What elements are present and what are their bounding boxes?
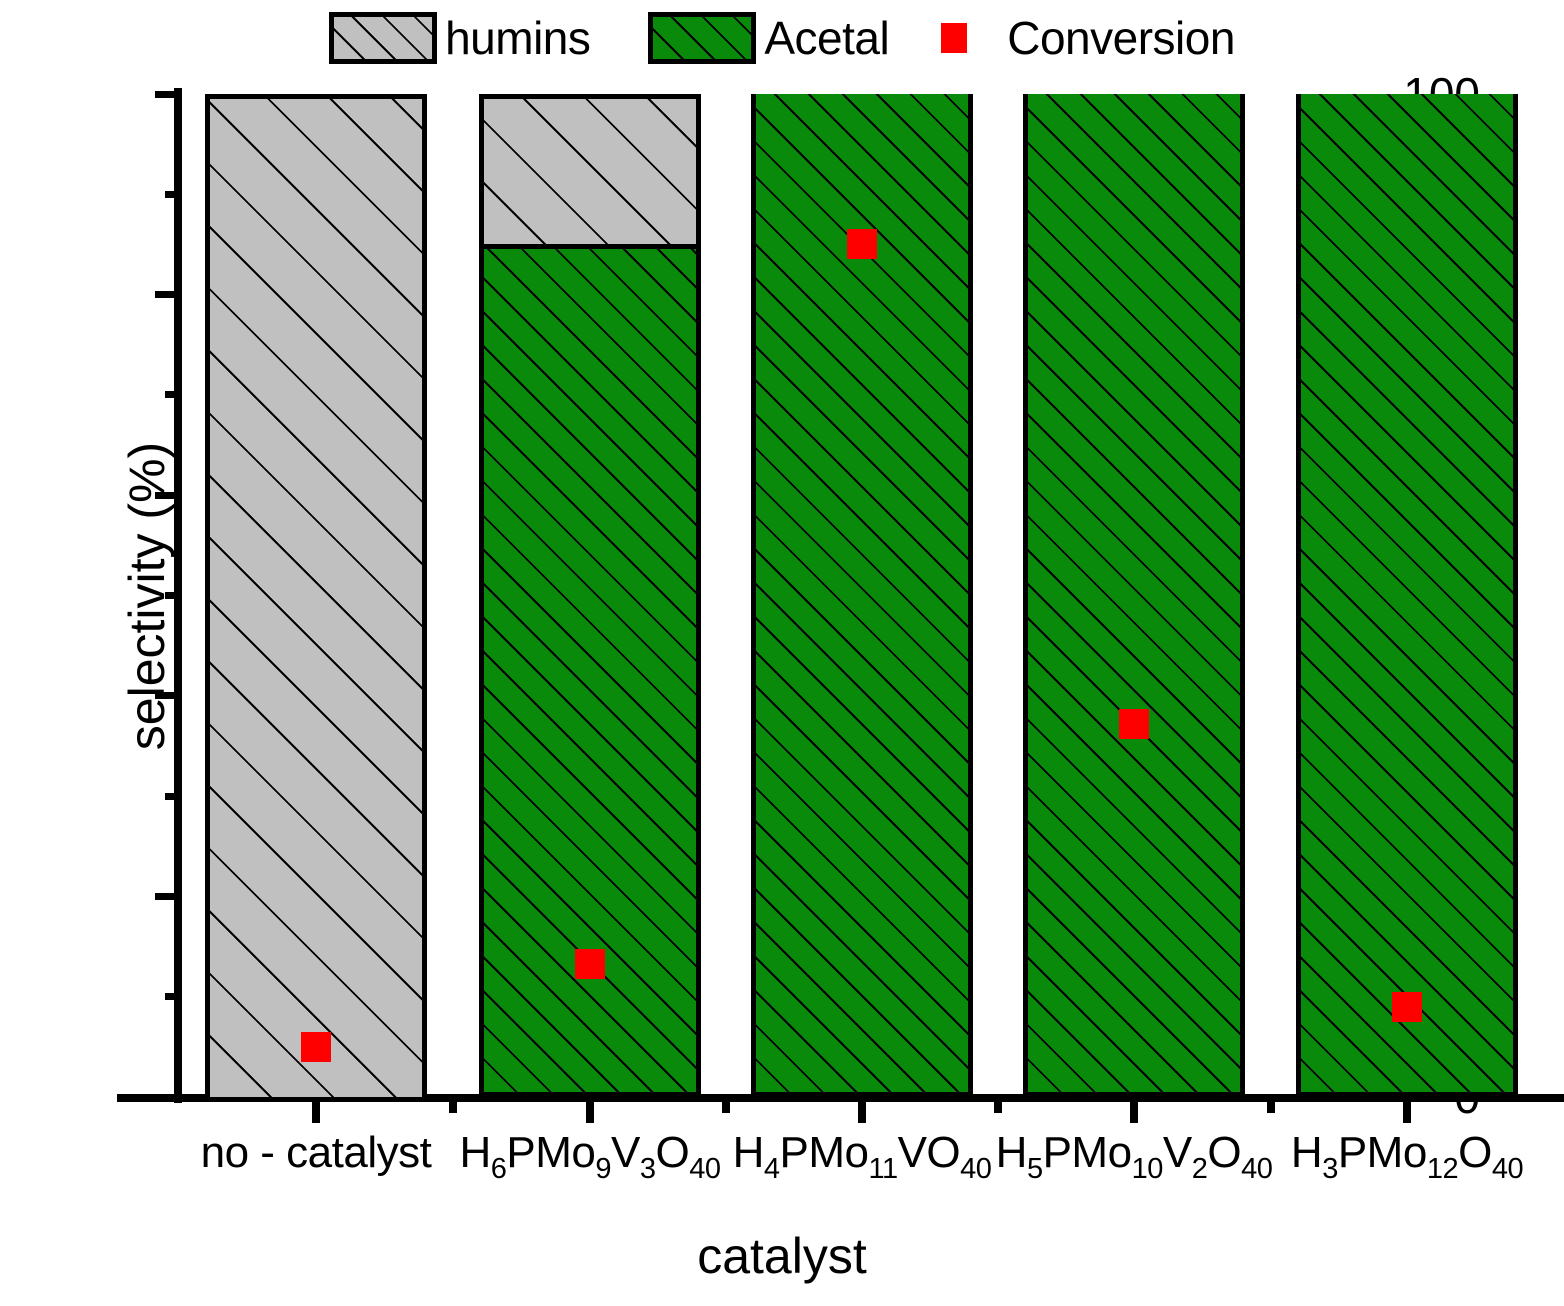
bar-H6PMo9V3O40 (479, 94, 701, 1097)
conversion-marker (1392, 992, 1422, 1022)
y-tick-minor (165, 191, 181, 198)
x-tick-label: H6PMo9V3O40 (459, 1128, 720, 1178)
conversion-marker (575, 949, 605, 979)
chart-legend: humins Acetal Conversion (0, 4, 1564, 72)
x-tick-minor (722, 1097, 730, 1113)
red-square-marker-icon (941, 23, 967, 53)
y-tick-major (155, 893, 181, 900)
x-tick-minor (994, 1097, 1002, 1113)
bar-no - catalyst (205, 94, 427, 1097)
y-tick-major (155, 291, 181, 298)
y-tick-major (155, 91, 181, 98)
legend-label-humins: humins (445, 15, 590, 61)
bar-H3PMo12O40 (1296, 94, 1518, 1097)
x-tick-minor (1267, 1097, 1275, 1113)
x-tick-major (1403, 1097, 1411, 1123)
y-tick-major (155, 1094, 181, 1101)
legend-entry-acetal: Acetal (648, 12, 889, 64)
x-tick-major (312, 1097, 320, 1123)
x-tick-label: H5PMo10V2O40 (996, 1128, 1273, 1178)
chart-figure: humins Acetal Conversion 020406080100 se… (0, 0, 1564, 1306)
conversion-marker (847, 229, 877, 259)
bar-segment-acetal (1301, 94, 1513, 1092)
gray-hatched-swatch-icon (329, 12, 437, 64)
y-tick-minor (165, 793, 181, 800)
plot-area: 020406080100 selectivity (%) (181, 94, 1518, 1097)
x-tick-major (586, 1097, 594, 1123)
x-axis-title: catalyst (0, 1228, 1564, 1284)
conversion-marker (1119, 709, 1149, 739)
bar-segment-acetal (1028, 94, 1240, 1092)
bar-segment-humins (210, 99, 422, 1097)
conversion-marker (301, 1032, 331, 1062)
x-tick-major (1130, 1097, 1138, 1123)
legend-label-acetal: Acetal (764, 15, 889, 61)
green-hatched-swatch-icon (648, 12, 756, 64)
x-tick-major (858, 1097, 866, 1123)
x-tick-minor (449, 1097, 457, 1113)
x-tick-label: no - catalyst (201, 1128, 432, 1178)
legend-label-conversion: Conversion (1007, 15, 1235, 61)
legend-entry-humins: humins (329, 12, 590, 64)
x-tick-label: H3PMo12O40 (1291, 1128, 1523, 1178)
x-tick-label: H4PMo11VO40 (733, 1128, 992, 1178)
bar-H5PMo10V2O40 (1023, 94, 1245, 1097)
legend-entry-conversion: Conversion (889, 15, 1235, 61)
bar-segment-humins (484, 99, 696, 244)
y-tick-minor (165, 993, 181, 1000)
y-axis-title: selectivity (%) (122, 441, 172, 749)
y-tick-minor (165, 391, 181, 398)
